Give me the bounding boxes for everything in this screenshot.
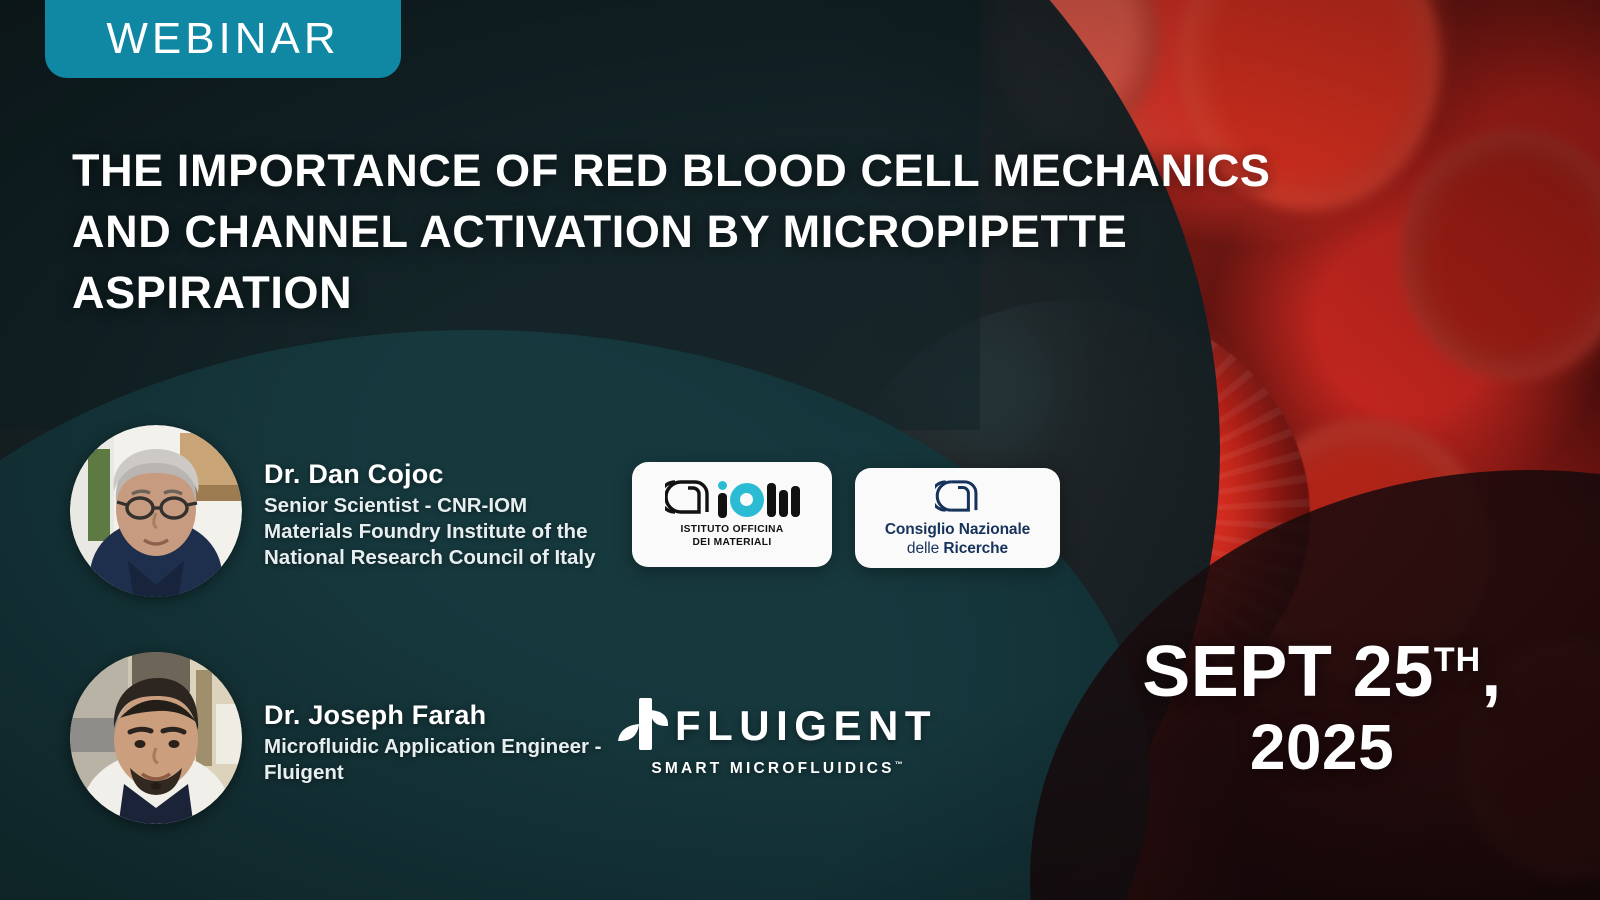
event-date-monthday: SEPT 25	[1142, 632, 1434, 712]
speaker-1-name: Dr. Dan Cojoc	[264, 459, 614, 490]
cnr-label-line2: delle Ricerche	[907, 540, 1008, 558]
speaker-card-1: Dr. Dan Cojoc Senior Scientist - CNR-IOM…	[70, 425, 614, 597]
speaker-2-text: Dr. Joseph Farah Microfluidic Applicatio…	[264, 652, 614, 786]
avatar-dan-cojoc	[70, 425, 242, 597]
speaker-2-role: Microfluidic Application Engineer - Flui…	[264, 734, 614, 786]
iom-caption-line1: ISTITUTO OFFICINA	[680, 524, 783, 537]
fluigent-row: FLUIGENT	[617, 694, 937, 757]
fluigent-tagline: SMART MICROFLUIDICS™	[651, 760, 902, 778]
fluigent-tagline-text: SMART MICROFLUIDICS	[651, 760, 894, 777]
event-date-line1: SEPT 25TH,	[1092, 636, 1552, 708]
webinar-badge: WEBINAR	[45, 0, 401, 78]
speaker-1-text: Dr. Dan Cojoc Senior Scientist - CNR-IOM…	[264, 425, 614, 572]
event-date-year: 2025	[1092, 714, 1552, 781]
logo-card-cnr: Consiglio Nazionale delle Ricerche	[855, 468, 1060, 568]
iom-wordmark	[718, 481, 800, 518]
event-date-ordinal: TH	[1434, 641, 1481, 679]
speaker-card-2: Dr. Joseph Farah Microfluidic Applicatio…	[70, 652, 614, 824]
cnr-label-line1: Consiglio Nazionale	[885, 521, 1030, 539]
iom-caption: ISTITUTO OFFICINA DEI MATERIALI	[680, 524, 783, 550]
avatar-joseph-farah	[70, 652, 242, 824]
iom-letter-m	[767, 483, 800, 517]
fluigent-wordmark: FLUIGENT	[675, 702, 937, 750]
blood-cell-blur-2	[1400, 130, 1600, 380]
webinar-badge-label: WEBINAR	[106, 14, 339, 64]
fluigent-trademark: ™	[895, 760, 903, 769]
iom-letter-o	[730, 483, 764, 517]
event-date-comma: ,	[1481, 632, 1502, 712]
logo-card-iom: ISTITUTO OFFICINA DEI MATERIALI	[632, 462, 832, 567]
fluigent-leaf-mark-icon	[617, 694, 671, 757]
cnr-arch-mark-icon	[665, 479, 711, 520]
webinar-banner: WEBINAR THE IMPORTANCE OF RED BLOOD CELL…	[0, 0, 1600, 900]
iom-logo-row	[665, 479, 800, 520]
iom-caption-line2: DEI MATERIALI	[680, 537, 783, 550]
iom-letter-i	[718, 481, 727, 518]
logo-fluigent: FLUIGENT SMART MICROFLUIDICS™	[617, 694, 937, 778]
speaker-1-role: Senior Scientist - CNR-IOM Materials Fou…	[264, 493, 614, 572]
cnr-arch-mark-navy-icon	[935, 479, 981, 518]
cnr-label-ricerche: Ricerche	[943, 540, 1008, 557]
event-date: SEPT 25TH, 2025	[1092, 636, 1552, 781]
page-title: THE IMPORTANCE OF RED BLOOD CELL MECHANI…	[72, 140, 1302, 324]
speaker-2-name: Dr. Joseph Farah	[264, 700, 614, 731]
cnr-label-delle: delle	[907, 540, 943, 557]
